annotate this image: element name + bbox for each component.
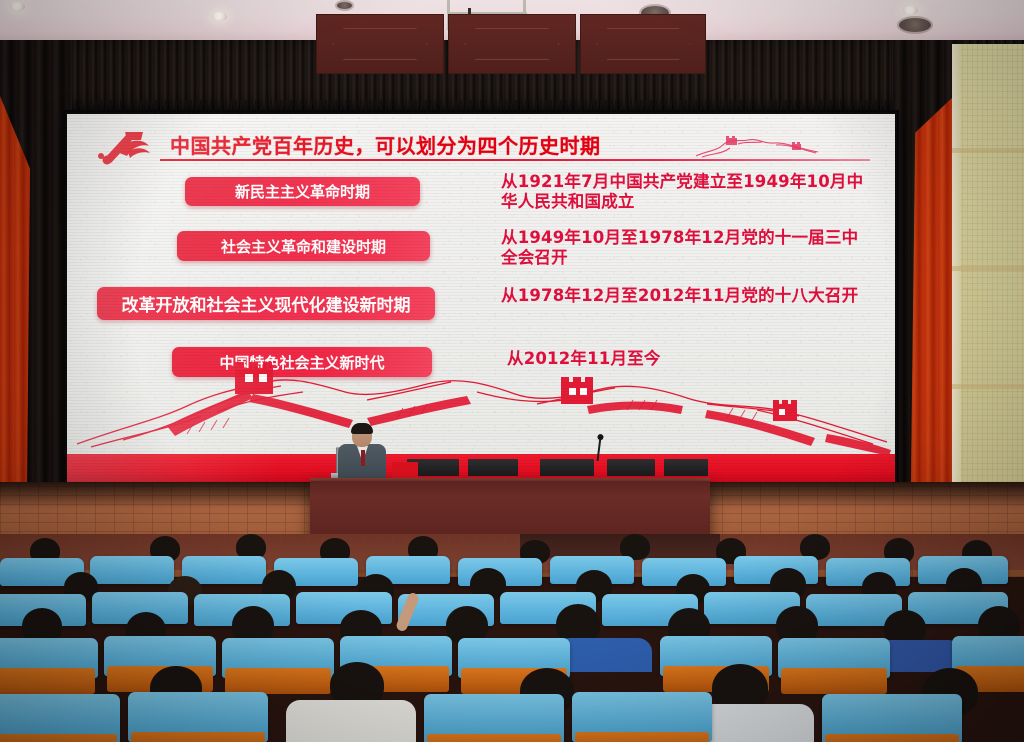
podium-panel (580, 14, 706, 74)
cpc-emblem-icon (97, 128, 155, 168)
acoustic-wall-panel (952, 44, 1024, 554)
auditorium-seat[interactable] (778, 638, 890, 678)
desk-red-marker (392, 462, 418, 478)
panel-seam (952, 384, 1024, 389)
downlight-icon (903, 6, 918, 15)
auditorium-seat[interactable] (90, 556, 174, 584)
auditorium-seat[interactable] (0, 694, 120, 742)
period-description-2: 从1949年10月至1978年12月党的十一届三中全会召开 (501, 228, 869, 268)
auditorium-seat[interactable] (572, 692, 712, 742)
period-label-3: 改革开放和社会主义现代化建设新时期 (97, 287, 435, 320)
auditorium-seat[interactable] (128, 692, 268, 742)
seat-wood-back (825, 734, 959, 742)
presentation-screen: 中国共产党百年历史，可以划分为四个历史时期 新民主主义革命时期 社会主义革命和建… (67, 114, 895, 482)
great-wall-panorama (67, 348, 895, 456)
audience-shoulders (286, 700, 416, 742)
podium-panel (316, 14, 444, 74)
period-description-1: 从1921年7月中国共产党建立至1949年10月中华人民共和国成立 (501, 172, 869, 212)
podium-panel-inlay (332, 28, 427, 60)
podium-panel-inlay (464, 28, 559, 60)
panel-edge (952, 44, 961, 554)
auditorium-seat[interactable] (424, 694, 564, 742)
auditorium-scene: 中国共产党百年历史，可以划分为四个历史时期 新民主主义革命时期 社会主义革命和建… (0, 0, 1024, 742)
panel-seam (952, 148, 1024, 153)
desk-monitor-panel (540, 459, 594, 476)
podium-panel (448, 14, 576, 74)
period-label-1: 新民主主义革命时期 (185, 177, 420, 206)
desk-monitor-panel (607, 459, 655, 476)
presenter-tie (361, 450, 365, 466)
seat-wood-back (427, 734, 561, 742)
ceiling-vent-icon (337, 2, 352, 9)
audience-shoulders (556, 638, 652, 672)
seat-wood-back (0, 734, 117, 742)
downlight-icon (10, 2, 25, 11)
downlight-icon (212, 12, 227, 21)
seat-wood-back (575, 732, 709, 742)
auditorium-seat[interactable] (222, 638, 334, 678)
desk-monitor-panel (468, 459, 518, 476)
period-description-3: 从1978年12月至2012年11月党的十八大召开 (501, 286, 869, 306)
panel-seam (952, 266, 1024, 271)
desk-monitor-panel (664, 459, 708, 476)
seat-wood-back (131, 732, 265, 742)
ceiling-vent-icon (899, 18, 931, 32)
seat-wood-back (781, 668, 887, 694)
seat-wood-back (225, 668, 331, 694)
great-wall-motif-icon (692, 130, 822, 160)
presenter-hair (351, 423, 373, 434)
podium-panel-inlay (596, 28, 690, 60)
period-label-2: 社会主义革命和建设时期 (177, 231, 430, 261)
seat-wood-back (0, 668, 95, 694)
auditorium-seat[interactable] (0, 638, 98, 678)
auditorium-seat[interactable] (822, 694, 962, 742)
slide-title: 中国共产党百年历史，可以划分为四个历史时期 (170, 130, 700, 159)
auditorium-seating (0, 534, 1024, 742)
